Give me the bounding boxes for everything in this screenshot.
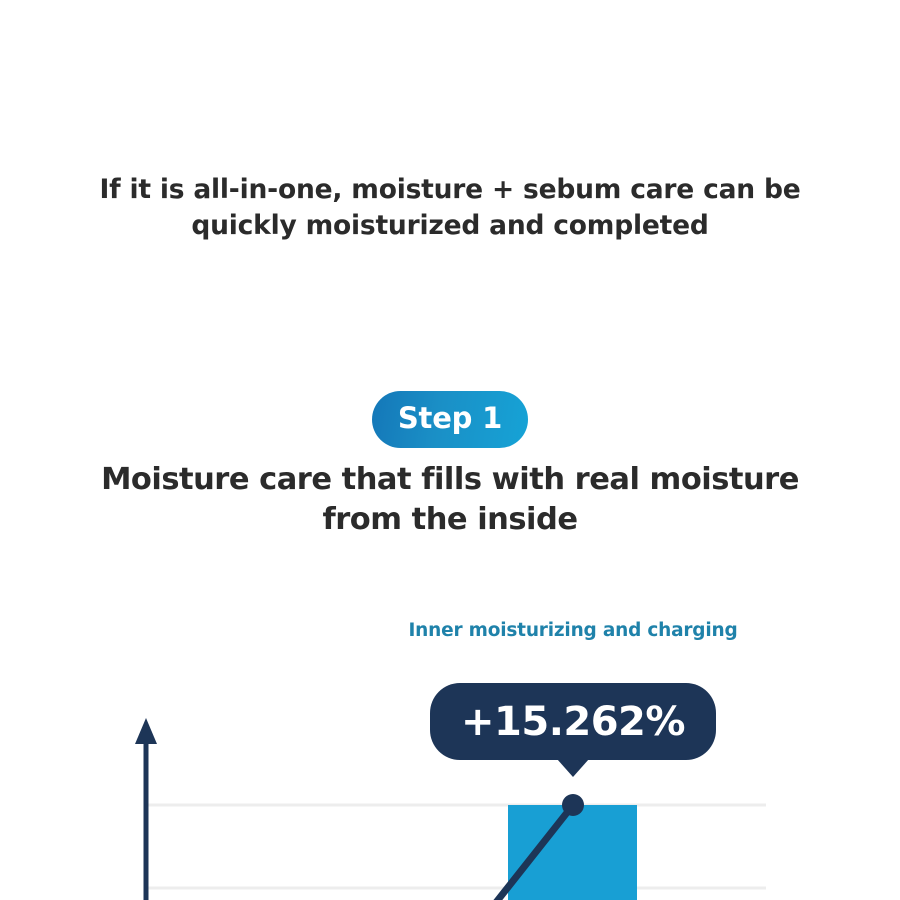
tooltip-pointer-icon xyxy=(557,759,589,777)
step-badge: Step 1 xyxy=(372,391,528,448)
chart-point-marker xyxy=(562,794,584,816)
infographic-page: If it is all-in-one, moisture + sebum ca… xyxy=(0,0,900,900)
lead-headline: If it is all-in-one, moisture + sebum ca… xyxy=(0,172,900,244)
lead-headline-line-2: quickly moisturized and completed xyxy=(0,208,900,244)
y-axis-arrow-icon xyxy=(135,718,157,744)
lead-headline-line-1: If it is all-in-one, moisture + sebum ca… xyxy=(0,172,900,208)
step-badge-container: Step 1 xyxy=(0,391,900,448)
value-tooltip-label: +15.262% xyxy=(461,702,685,742)
value-tooltip: +15.262% xyxy=(430,683,716,760)
section-headline-line-1: Moisture care that fills with real moist… xyxy=(0,460,900,500)
chart-bar xyxy=(508,805,637,900)
section-headline: Moisture care that fills with real moist… xyxy=(0,460,900,540)
chart-gridlines xyxy=(146,805,766,888)
section-headline-line-2: from the inside xyxy=(0,500,900,540)
chart-block: Inner moisturizing and charging +15.262% xyxy=(0,600,900,900)
